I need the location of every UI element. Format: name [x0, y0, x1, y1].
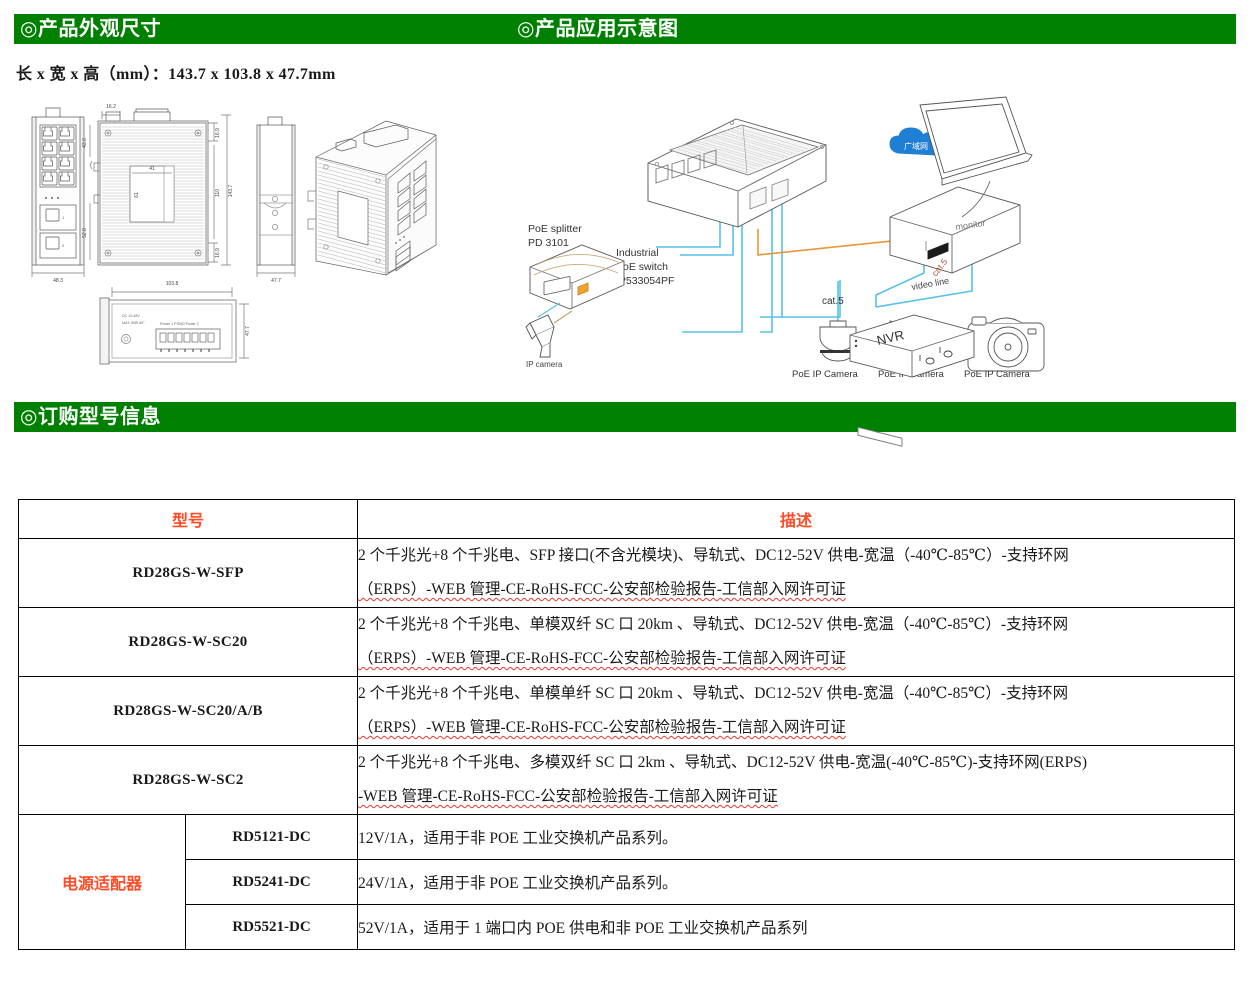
dimension-note: 长 x 宽 x 高（mm）：143.7 x 103.8 x 47.7mm: [16, 60, 336, 84]
adapter-model: RD5521-DC: [186, 905, 358, 950]
description-cell: 2 个千兆光+8 个千兆电、多模双纤 SC 口 2km 、导轨式、DC12-52…: [358, 746, 1235, 815]
ip-camera-label: IP camera: [526, 360, 563, 369]
table-row: RD28GS-W-SC20/A/B 2 个千兆光+8 个千兆电、单模单纤 SC …: [19, 677, 1235, 746]
dim-16-2: 16.2: [106, 104, 116, 110]
camera-label-0: PoE IP Camera: [792, 369, 859, 380]
drawing-iso-view: [308, 121, 436, 275]
dim-103-8: 103.8: [166, 281, 179, 287]
column-header-model: 型号: [19, 500, 358, 539]
section-header-dimensions-label: ◎产品外观尺寸: [20, 18, 161, 40]
adapter-description: 52V/1A，适用于 1 端口内 POE 供电和非 POE 工业交换机产品系列: [358, 905, 1235, 950]
dim-front-width: 48.3: [53, 278, 63, 284]
table-row: RD5521-DC 52V/1A，适用于 1 端口内 POE 供电和非 POE …: [19, 905, 1235, 950]
bottom-terminal-labels: Power 1 PGND Power 2: [160, 322, 199, 326]
table-header-row: 型号 描述: [19, 500, 1235, 539]
dim-41: 41: [149, 166, 155, 172]
dim-52-8: 52.8: [82, 228, 88, 238]
product-application-diagram: Industrial PoE switch IP533054PF PoE spl…: [520, 95, 1235, 380]
camera-label-2: PoE IP Camera: [964, 369, 1031, 380]
dim-43-6: 43.6: [82, 138, 88, 148]
section-header-ordering-label: ◎订购型号信息: [20, 406, 161, 428]
dim-16-9-bot: 16.9: [215, 248, 221, 258]
dim-110: 110: [215, 189, 221, 197]
table-row: 电源适配器 RD5121-DC 12V/1A，适用于非 POE 工业交换机产品系…: [19, 815, 1235, 860]
splitter-label-line2: PD 3101: [528, 237, 569, 249]
model-cell: RD28GS-W-SC20/A/B: [19, 677, 358, 746]
description-cell: 2 个千兆光+8 个千兆电、SFP 接口(不含光模块)、导轨式、DC12-52V…: [358, 539, 1235, 608]
splitter-label-line1: PoE splitter: [528, 223, 582, 235]
description-line: （ERPS）-WEB 管理-CE-RoHS-FCC-公安部检验报告-工信部入网许…: [358, 711, 1234, 745]
dim-16-9-top: 16.9: [215, 128, 221, 138]
dimension-drawing-svg: 1 2 48.3: [16, 95, 486, 380]
video-line-label: video line: [911, 276, 950, 292]
cat5-label-mid: cat.5: [822, 296, 844, 307]
switch-label-line1: Industrial: [616, 247, 659, 259]
industrial-poe-switch: [648, 119, 826, 227]
description-cell: 2 个千兆光+8 个千兆电、单模单纤 SC 口 20km 、导轨式、DC12-5…: [358, 677, 1235, 746]
model-cell: RD28GS-W-SC20: [19, 608, 358, 677]
description-line: 2 个千兆光+8 个千兆电、SFP 接口(不含光模块)、导轨式、DC12-52V…: [358, 539, 1234, 573]
table-row: RD28GS-W-SFP 2 个千兆光+8 个千兆电、SFP 接口(不含光模块)…: [19, 539, 1235, 608]
adapter-description: 24V/1A，适用于非 POE 工业交换机产品系列。: [358, 860, 1235, 905]
bottom-dc-label: DC 12-48V: [122, 314, 140, 318]
table-row: RD28GS-W-SC2 2 个千兆光+8 个千兆电、多模双纤 SC 口 2km…: [19, 746, 1235, 815]
model-cell: RD28GS-W-SFP: [19, 539, 358, 608]
description-line: 2 个千兆光+8 个千兆电、多模双纤 SC 口 2km 、导轨式、DC12-52…: [358, 746, 1234, 780]
application-diagram-svg: Industrial PoE switch IP533054PF PoE spl…: [520, 95, 1235, 380]
ip-camera-small: [526, 315, 554, 357]
description-line: 2 个千兆光+8 个千兆电、单模单纤 SC 口 20km 、导轨式、DC12-5…: [358, 677, 1234, 711]
description-line: （ERPS）-WEB 管理-CE-RoHS-FCC-公安部检验报告-工信部入网许…: [358, 573, 1234, 607]
poe-ip-camera-dslr: [968, 317, 1044, 371]
poe-splitter: [530, 245, 624, 309]
adapter-model: RD5241-DC: [186, 860, 358, 905]
dim-61: 61: [134, 192, 140, 198]
table-row: RD28GS-W-SC20 2 个千兆光+8 个千兆电、单模双纤 SC 口 20…: [19, 608, 1235, 677]
svg-text:MAX 30W 60°: MAX 30W 60°: [122, 321, 145, 325]
dim-47-7-bottom: 47.7: [245, 326, 251, 336]
drawing-bottom-view: DC 12-48V MAX 30W 60° Power 1 PGND Power…: [100, 281, 251, 364]
model-cell: RD28GS-W-SC2: [19, 746, 358, 815]
description-line: （ERPS）-WEB 管理-CE-RoHS-FCC-公安部检验报告-工信部入网许…: [358, 642, 1234, 676]
adapter-group-label: 电源适配器: [19, 815, 186, 950]
section-header-application-label: ◎产品应用示意图: [517, 18, 678, 40]
drawing-side-view: 47.7: [257, 117, 295, 284]
switch-label-line3: IP533054PF: [616, 275, 674, 287]
description-cell: 2 个千兆光+8 个千兆电、单模双纤 SC 口 20km 、导轨式、DC12-5…: [358, 608, 1235, 677]
fiber-cable: [758, 229, 892, 255]
section-header-ordering: ◎订购型号信息: [14, 402, 1236, 432]
ordering-info-table: 型号 描述 RD28GS-W-SFP 2 个千兆光+8 个千兆电、SFP 接口(…: [18, 499, 1235, 950]
adapter-model: RD5121-DC: [186, 815, 358, 860]
adapter-description: 12V/1A，适用于非 POE 工业交换机产品系列。: [358, 815, 1235, 860]
section-header-dimensions: ◎产品外观尺寸: [14, 14, 511, 44]
dim-47-7-side: 47.7: [271, 278, 281, 284]
description-line: 2 个千兆光+8 个千兆电、单模双纤 SC 口 20km 、导轨式、DC12-5…: [358, 608, 1234, 642]
product-dimension-drawings: 1 2 48.3: [16, 95, 486, 375]
drawing-main-view: 16.2 43.6 52.8 41 61 16.9 110 16.9 143.7: [82, 104, 234, 265]
section-header-application: ◎产品应用示意图: [511, 14, 1236, 44]
column-header-description: 描述: [358, 500, 1235, 539]
cloud-label: 广域网: [904, 141, 928, 151]
dim-143-7: 143.7: [228, 185, 234, 198]
drawing-front-view: 1 2 48.3: [32, 108, 84, 284]
table-row: RD5241-DC 24V/1A，适用于非 POE 工业交换机产品系列。: [19, 860, 1235, 905]
description-line: -WEB 管理-CE-RoHS-FCC-公安部检验报告-工信部入网许可证: [358, 780, 1234, 814]
